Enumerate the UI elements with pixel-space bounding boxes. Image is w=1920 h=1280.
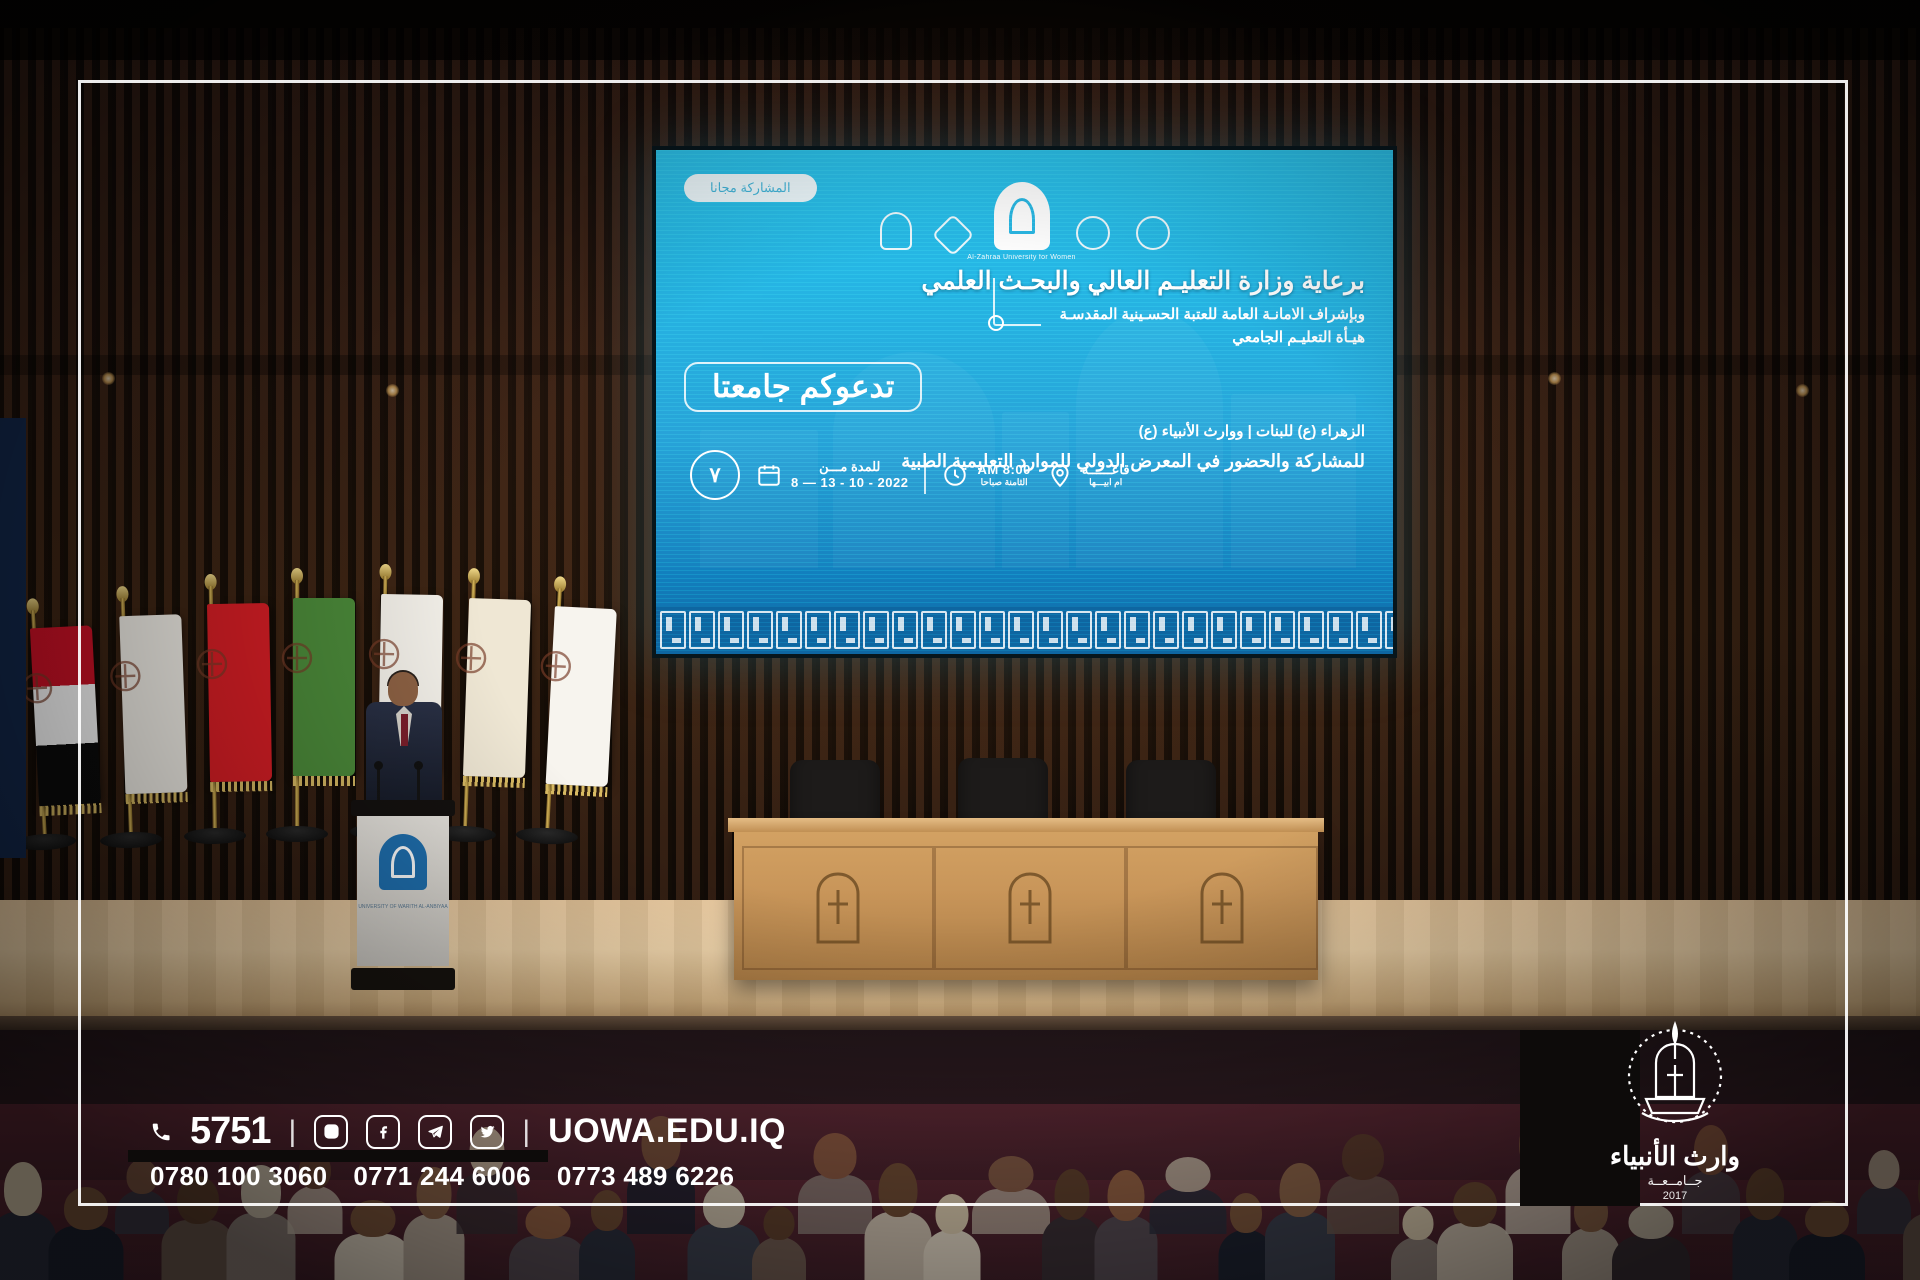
calendar-icon (756, 462, 782, 488)
flag-cloth (546, 606, 617, 787)
person-head (1805, 1201, 1849, 1237)
table-panel (934, 846, 1126, 970)
audience-person (1265, 1163, 1335, 1280)
table-panel (1126, 846, 1318, 970)
kufic-unit (979, 611, 1005, 649)
duration-value: 2022 - 10 - 13 — 8 (791, 475, 908, 491)
podium-logo-icon (379, 834, 427, 890)
wall-upper-band (0, 0, 1920, 60)
flag-fringe (545, 784, 607, 797)
event-photo-canvas: المشاركة مجانا Al-Zahraa University for … (0, 0, 1920, 1280)
microphone-icon (377, 766, 380, 802)
venue-info: قاعــــــة ام ابيـــها (1047, 462, 1130, 488)
university-seal-icon (1612, 1013, 1738, 1139)
person-torso (161, 1220, 234, 1280)
table-panel (742, 846, 934, 970)
speaker-person (356, 672, 452, 804)
podium-logo-label: UNIVERSITY OF WARITH AL-ANBIYAA (357, 904, 449, 910)
person-head (4, 1162, 42, 1216)
person-head (764, 1206, 795, 1240)
time-label: الثامنة صباحا (977, 477, 1030, 488)
person-torso (1265, 1212, 1335, 1280)
kufic-unit (950, 611, 976, 649)
audience-person (972, 1156, 1050, 1234)
phone-icon (150, 1119, 172, 1145)
kufic-unit (1211, 611, 1237, 649)
slide-connector-line (993, 278, 1041, 326)
person-torso (403, 1214, 464, 1280)
audience-person (1903, 1164, 1920, 1280)
time-value: 8:00 AM (977, 462, 1030, 478)
kufic-unit (805, 611, 831, 649)
white-institution-flag-3 (512, 587, 595, 836)
university-logo-caption: Al-Zahraa University for Women (967, 254, 1075, 263)
twitter-icon[interactable] (470, 1115, 504, 1149)
clock-icon (942, 462, 968, 488)
white-institution-flag (88, 597, 166, 839)
kufic-unit (892, 611, 918, 649)
flag-emblem-icon (192, 644, 233, 691)
hotline-number: 5751 (190, 1110, 271, 1153)
person-torso (1149, 1189, 1226, 1234)
audience-person (1612, 1204, 1690, 1280)
person-head (989, 1156, 1034, 1192)
kufic-unit (1327, 611, 1353, 649)
left-navy-strip (0, 418, 26, 858)
kufic-unit (1124, 611, 1150, 649)
person-torso (1789, 1234, 1865, 1280)
wall-light (1548, 372, 1561, 385)
audience-person (798, 1133, 872, 1234)
person-head (1342, 1134, 1384, 1180)
edition-number-badge: ٧ (690, 450, 740, 500)
kufic-unit (1269, 611, 1295, 649)
person-torso (509, 1236, 587, 1280)
person-torso (798, 1175, 872, 1234)
slide-headline: تدعوكم جامعتا (684, 362, 922, 412)
person-head (1055, 1169, 1090, 1220)
location-pin-icon (1047, 462, 1073, 488)
telegram-icon[interactable] (418, 1115, 452, 1149)
person-head (814, 1133, 857, 1179)
microphone-icon (417, 766, 420, 802)
audience-person (1789, 1201, 1865, 1280)
wall-light (386, 384, 399, 397)
kufic-unit (689, 611, 715, 649)
phone-number: 0771 244 6006 (353, 1161, 530, 1192)
info-divider (924, 456, 926, 494)
green-institution-flag (262, 580, 332, 832)
kufic-unit (863, 611, 889, 649)
flag-emblem-icon (105, 655, 147, 702)
slide-universities-line: الزهراء (ع) للبنات | ووارث الأنبياء (ع) (684, 422, 1365, 440)
hex-logo-icon (931, 214, 973, 256)
kufic-unit (1298, 611, 1324, 649)
university-seal-name: وارث الأنبياء (1610, 1141, 1740, 1172)
duration-label: للمدة مـــن (791, 459, 908, 475)
person-torso (48, 1226, 123, 1280)
university-emblem-icon (1192, 870, 1252, 946)
audience-person (334, 1200, 411, 1280)
flag-emblem-icon (277, 638, 317, 684)
university-emblem-icon (808, 870, 868, 946)
led-screen-content: المشاركة مجانا Al-Zahraa University for … (656, 150, 1393, 654)
person-head (1869, 1150, 1900, 1189)
slide-info-bar: ٧ للمدة مـــن 2022 - 10 - 13 — 8 (656, 450, 1393, 500)
person-torso (579, 1228, 635, 1280)
person-torso (923, 1230, 980, 1280)
person-torso (864, 1212, 931, 1280)
facebook-icon[interactable] (366, 1115, 400, 1149)
instagram-icon[interactable] (314, 1115, 348, 1149)
person-head (1107, 1170, 1144, 1221)
kufic-unit (718, 611, 744, 649)
kufic-unit (1008, 611, 1034, 649)
university-seal-subtitle: جــامــعــة (1647, 1173, 1702, 1189)
wall-light (102, 372, 115, 385)
flag-fringe (293, 776, 355, 786)
person-head (1453, 1182, 1497, 1227)
person-head (1403, 1206, 1434, 1240)
contact-separator: | (289, 1115, 297, 1149)
audience-person (1327, 1134, 1399, 1234)
led-screen: المشاركة مجانا Al-Zahraa University for … (652, 146, 1397, 658)
person-torso (1042, 1216, 1102, 1280)
person-torso (1732, 1215, 1797, 1280)
audience-person (687, 1184, 760, 1280)
person-head (1629, 1204, 1674, 1239)
wall-light (1796, 384, 1809, 397)
university-emblem-icon (1000, 870, 1060, 946)
person-torso (972, 1189, 1050, 1234)
shrine-logo-icon (880, 212, 912, 250)
university-seal-year: 2017 (1663, 1190, 1687, 1202)
partner-logos-row: Al-Zahraa University for Women (656, 182, 1393, 250)
person-torso (1094, 1216, 1157, 1280)
kufic-pattern-band (656, 606, 1393, 654)
kufic-unit (834, 611, 860, 649)
kufic-unit (1240, 611, 1266, 649)
ministry-logo-icon (1076, 216, 1110, 250)
person-head (1230, 1193, 1262, 1233)
phone-numbers-row: 0780 100 3060 0771 244 6006 0773 489 622… (150, 1161, 786, 1192)
kufic-unit (776, 611, 802, 649)
person-head (878, 1163, 917, 1217)
audience-person (864, 1163, 931, 1280)
kufic-unit (1182, 611, 1208, 649)
person-head (350, 1200, 395, 1237)
person-head (1280, 1163, 1321, 1217)
person-torso (752, 1237, 806, 1280)
person-head (591, 1190, 623, 1231)
flag-cloth (293, 598, 355, 776)
phone-number: 0773 489 6226 (557, 1161, 734, 1192)
venue-label: قاعــــــة (1082, 462, 1130, 478)
flag-emblem-icon (534, 645, 576, 693)
audience-person (509, 1204, 587, 1280)
flag-emblem-icon (450, 637, 492, 684)
kufic-unit (1356, 611, 1382, 649)
wall-top-beam (0, 0, 1920, 28)
kufic-unit (747, 611, 773, 649)
kufic-unit (660, 611, 686, 649)
person-torso (1612, 1236, 1690, 1280)
authority-logo-icon (1136, 216, 1170, 250)
podium: UNIVERSITY OF WARITH AL-ANBIYAA (351, 800, 455, 990)
kufic-unit (1037, 611, 1063, 649)
person-torso (1327, 1176, 1399, 1234)
person-head (526, 1204, 571, 1239)
contact-separator-2: | (522, 1115, 530, 1149)
contact-bar: 5751 | | UOWA.EDU.IQ 0780 100 3060 0771 … (150, 1110, 786, 1192)
person-torso (1437, 1223, 1513, 1280)
audience-person (1437, 1182, 1513, 1280)
time-info: 8:00 AM الثامنة صباحا (942, 462, 1030, 488)
slide-authority-line: هيـأة التعليـم الجامعي (684, 328, 1365, 346)
person-torso (1903, 1213, 1920, 1280)
person-torso (334, 1234, 411, 1280)
person-head (1165, 1157, 1210, 1192)
person-torso (687, 1224, 760, 1280)
kufic-unit (1066, 611, 1092, 649)
university-main-logo-icon (994, 182, 1050, 250)
kufic-unit (1095, 611, 1121, 649)
head-table (734, 828, 1318, 980)
person-torso (226, 1213, 295, 1280)
duration-info: للمدة مـــن 2022 - 10 - 13 — 8 (756, 459, 908, 490)
person-head (935, 1194, 968, 1234)
kufic-unit (1153, 611, 1179, 649)
kufic-unit (1385, 611, 1393, 649)
audience-person (48, 1187, 123, 1280)
kufic-unit (921, 611, 947, 649)
university-seal: وارث الأنبياء جــامــعــة 2017 (1580, 1002, 1770, 1202)
venue-value: ام ابيـــها (1082, 477, 1130, 488)
audience-person (1149, 1157, 1226, 1234)
person-head (64, 1187, 108, 1230)
audience-person (1042, 1169, 1102, 1280)
audience-person (1094, 1170, 1157, 1280)
red-institution-flag (176, 585, 250, 834)
website-url[interactable]: UOWA.EDU.IQ (548, 1112, 786, 1151)
phone-number: 0780 100 3060 (150, 1161, 327, 1192)
flag-base (266, 826, 328, 842)
